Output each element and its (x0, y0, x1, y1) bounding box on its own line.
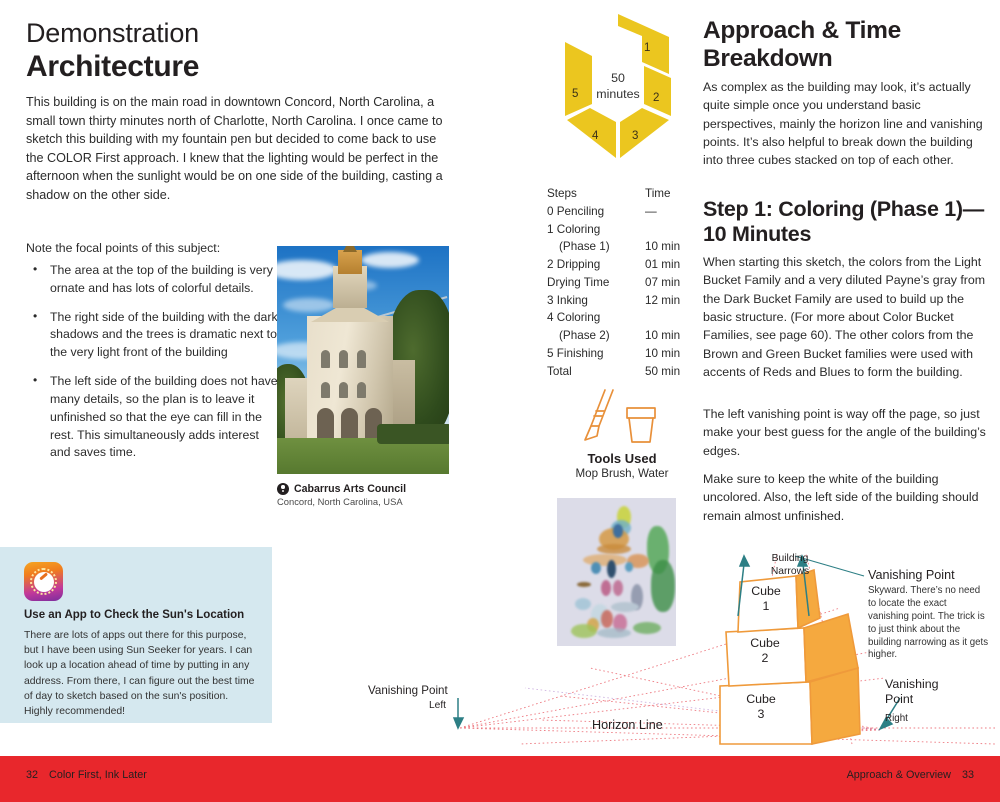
vp-left-title: Vanishing Point (368, 684, 448, 697)
cell-time: 50 min (643, 363, 699, 381)
caption-subtitle: Concord, North Carolina, USA (277, 496, 449, 507)
cube-2-label: Cube 2 (732, 636, 798, 666)
vp-sky-title: Vanishing Point (868, 568, 955, 582)
cell-time: 10 min (643, 345, 699, 363)
cell-step: Total (547, 363, 643, 381)
tools-subtitle: Mop Brush, Water (547, 467, 697, 480)
cell-time: 07 min (643, 274, 699, 292)
focal-points-list: The area at the top of the building is v… (26, 262, 278, 473)
steps-time-table: Steps Time 0 Penciling— 1 Coloring (Phas… (547, 185, 699, 381)
book-page-spread: Demonstration Architecture This building… (0, 0, 1000, 802)
building-photograph (277, 246, 449, 474)
building-photo-figure: Cabarrus Arts Council Concord, North Car… (277, 246, 449, 507)
hex-label-3: 3 (632, 130, 638, 142)
table-row: 1 Coloring (547, 221, 699, 239)
footer-book-title: Color First, Ink Later (49, 769, 147, 781)
tools-title: Tools Used (547, 451, 697, 466)
caption-title-row: Cabarrus Arts Council (277, 483, 449, 495)
footer-page-number-right: 33 (962, 769, 974, 781)
step1-paragraph-3: Make sure to keep the white of the build… (703, 470, 986, 525)
water-cup-icon (627, 408, 655, 418)
tools-icons (547, 388, 697, 450)
cell-step: (Phase 1) (547, 238, 643, 256)
list-item: The right side of the building with the … (26, 309, 278, 362)
vp-right-title: Vanishing Point (885, 677, 955, 706)
photo-caption: Cabarrus Arts Council Concord, North Car… (277, 483, 449, 507)
caption-title: Cabarrus Arts Council (294, 483, 406, 495)
hex-label-5: 5 (572, 88, 578, 100)
cube-1-label: Cube 1 (736, 584, 796, 614)
footer-section-title: Approach & Overview (847, 769, 951, 781)
cell-step: 5 Finishing (547, 345, 643, 363)
perspective-diagram: Vanishing Point Left Horizon Line Buildi… (340, 548, 1000, 753)
vp-left-subtitle: Left (429, 700, 446, 711)
table-row: 0 Penciling— (547, 203, 699, 221)
step1-paragraph-2: The left vanishing point is way off the … (703, 405, 986, 460)
footer-left: 32 Color First, Ink Later (26, 769, 147, 781)
hex-segment-2 (644, 66, 671, 116)
location-pin-icon (277, 483, 289, 495)
hexagon-segments (543, 12, 693, 160)
step1-heading: Step 1: Coloring (Phase 1)—10 Minutes (703, 197, 995, 248)
cell-time: 10 min (643, 327, 699, 345)
page-footer: 32 Color First, Ink Later Approach & Ove… (0, 756, 1000, 802)
step1-paragraph-1: When starting this sketch, the colors fr… (703, 253, 988, 382)
page-eyebrow: Demonstration (26, 18, 199, 49)
footer-page-number-left: 32 (26, 769, 38, 781)
hex-segment-5 (565, 42, 592, 116)
table-row: 2 Dripping01 min (547, 256, 699, 274)
building-narrows-label: Building Narrows (760, 552, 820, 579)
vp-sky-body: Skyward. There’s no need to locate the e… (868, 585, 990, 662)
hex-segment-3 (620, 108, 669, 158)
cell-step: 2 Dripping (547, 256, 643, 274)
tip-callout-box: Use an App to Check the Sun's Location T… (0, 547, 272, 723)
cell-time: 12 min (643, 292, 699, 310)
table-row: 4 Coloring (547, 309, 699, 327)
table-header-row: Steps Time (547, 185, 699, 203)
cube-3-label: Cube 3 (726, 692, 796, 722)
focal-points-lead: Note the focal points of this subject: (26, 240, 276, 258)
time-hexagon-chart: 1 2 3 4 5 50 minutes (543, 12, 693, 160)
col-header-steps: Steps (547, 185, 643, 203)
intro-paragraph: This building is on the main road in dow… (26, 93, 444, 204)
footer-right: Approach & Overview 33 (847, 769, 974, 781)
cell-step: 4 Coloring (547, 309, 643, 327)
table-row: 5 Finishing10 min (547, 345, 699, 363)
list-item: The area at the top of the building is v… (26, 262, 278, 298)
tools-used-block: Tools Used Mop Brush, Water (547, 388, 697, 480)
paint-brush-icon (599, 390, 613, 426)
table-row: 3 Inking12 min (547, 292, 699, 310)
cell-step: Drying Time (547, 274, 643, 292)
cell-step: (Phase 2) (547, 327, 643, 345)
hex-label-2: 2 (653, 92, 659, 104)
cell-time: — (643, 203, 699, 221)
table-row: Drying Time07 min (547, 274, 699, 292)
vp-right-subtitle: Right (885, 713, 908, 724)
cell-step: 1 Coloring (547, 221, 643, 239)
page-title: Architecture (26, 50, 199, 84)
list-item: The left side of the building does not h… (26, 373, 278, 462)
cell-time (643, 221, 699, 239)
tip-body: There are lots of apps out there for thi… (24, 628, 258, 719)
approach-heading: Approach & Time Breakdown (703, 17, 993, 74)
tip-title: Use an App to Check the Sun's Location (24, 609, 256, 621)
approach-paragraph: As complex as the building may look, it’… (703, 78, 989, 170)
table-row: Total50 min (547, 363, 699, 381)
table-row: (Phase 1)10 min (547, 238, 699, 256)
cell-time: 10 min (643, 238, 699, 256)
cell-step: 3 Inking (547, 292, 643, 310)
cell-step: 0 Penciling (547, 203, 643, 221)
col-header-time: Time (643, 185, 699, 203)
horizon-line-label: Horizon Line (592, 718, 663, 732)
hex-label-4: 4 (592, 130, 598, 142)
cell-time (643, 309, 699, 327)
compass-app-icon (24, 562, 63, 601)
cell-time: 01 min (643, 256, 699, 274)
hex-label-1: 1 (644, 42, 650, 54)
table-row: (Phase 2)10 min (547, 327, 699, 345)
